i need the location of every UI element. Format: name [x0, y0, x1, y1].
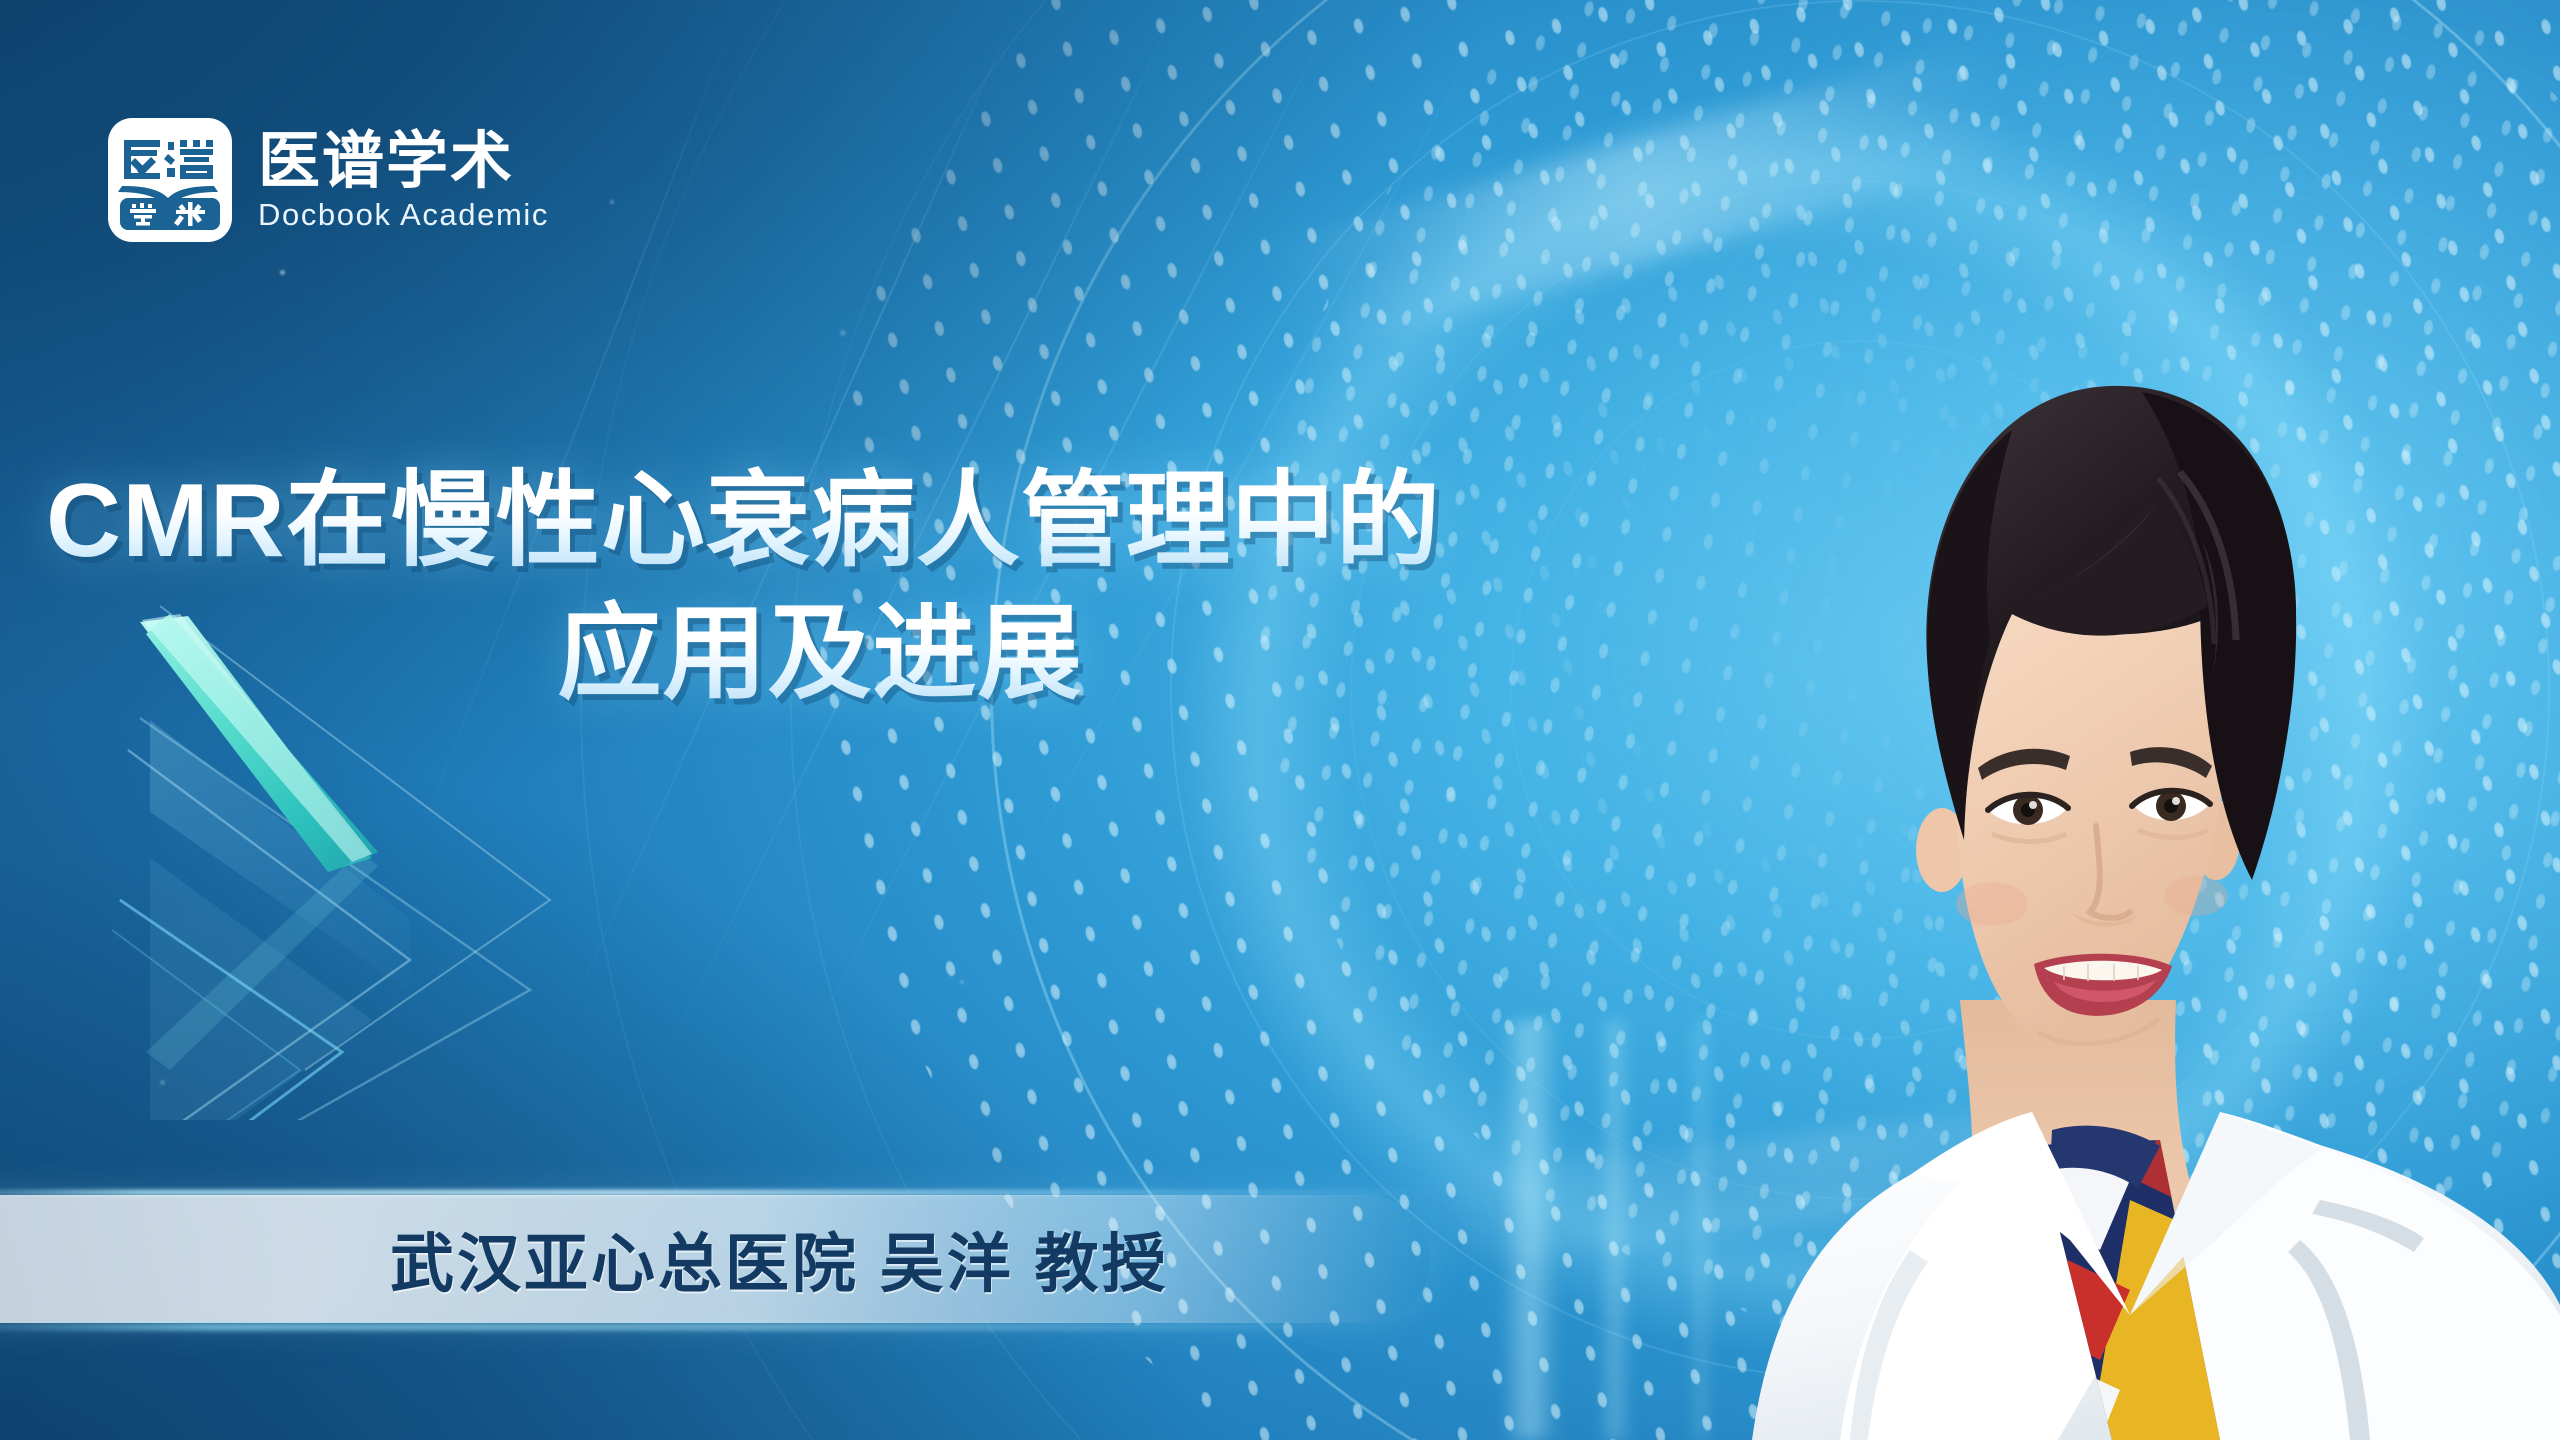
title-line-2: 应用及进展 [0, 588, 1640, 721]
slide-canvas: 医谱学术 Docbook Academic CMR在慢性心衰病人管理中的 应用及… [0, 0, 2560, 1440]
presenter-name-text: 武汉亚心总医院 吴洋 教授 [390, 1195, 1169, 1323]
logo-name-en: Docbook Academic [258, 199, 549, 230]
light-beam-a [1500, 1020, 1560, 1440]
title-line-1: CMR在慢性心衰病人管理中的 [0, 455, 1700, 588]
brand-logo[interactable]: 医谱学术 Docbook Academic [108, 118, 549, 242]
presenter-portrait-illustration [1660, 240, 2560, 1440]
page-title: CMR在慢性心衰病人管理中的 应用及进展 [0, 455, 1700, 721]
namebar-bottom-glow [0, 1324, 1360, 1330]
sparkle-dot [840, 330, 846, 336]
logo-name-cn: 医谱学术 [258, 130, 549, 193]
presenter-photo [1660, 240, 2560, 1440]
light-beam-b [1598, 1020, 1632, 1440]
sparkle-dot [280, 270, 285, 275]
sparkle-dot [960, 980, 964, 984]
logo-mark-icon [108, 118, 232, 242]
logo-wordmark: 医谱学术 Docbook Academic [258, 130, 549, 230]
docbook-academic-glyph-icon [118, 128, 222, 232]
sparkle-dot [610, 200, 614, 204]
